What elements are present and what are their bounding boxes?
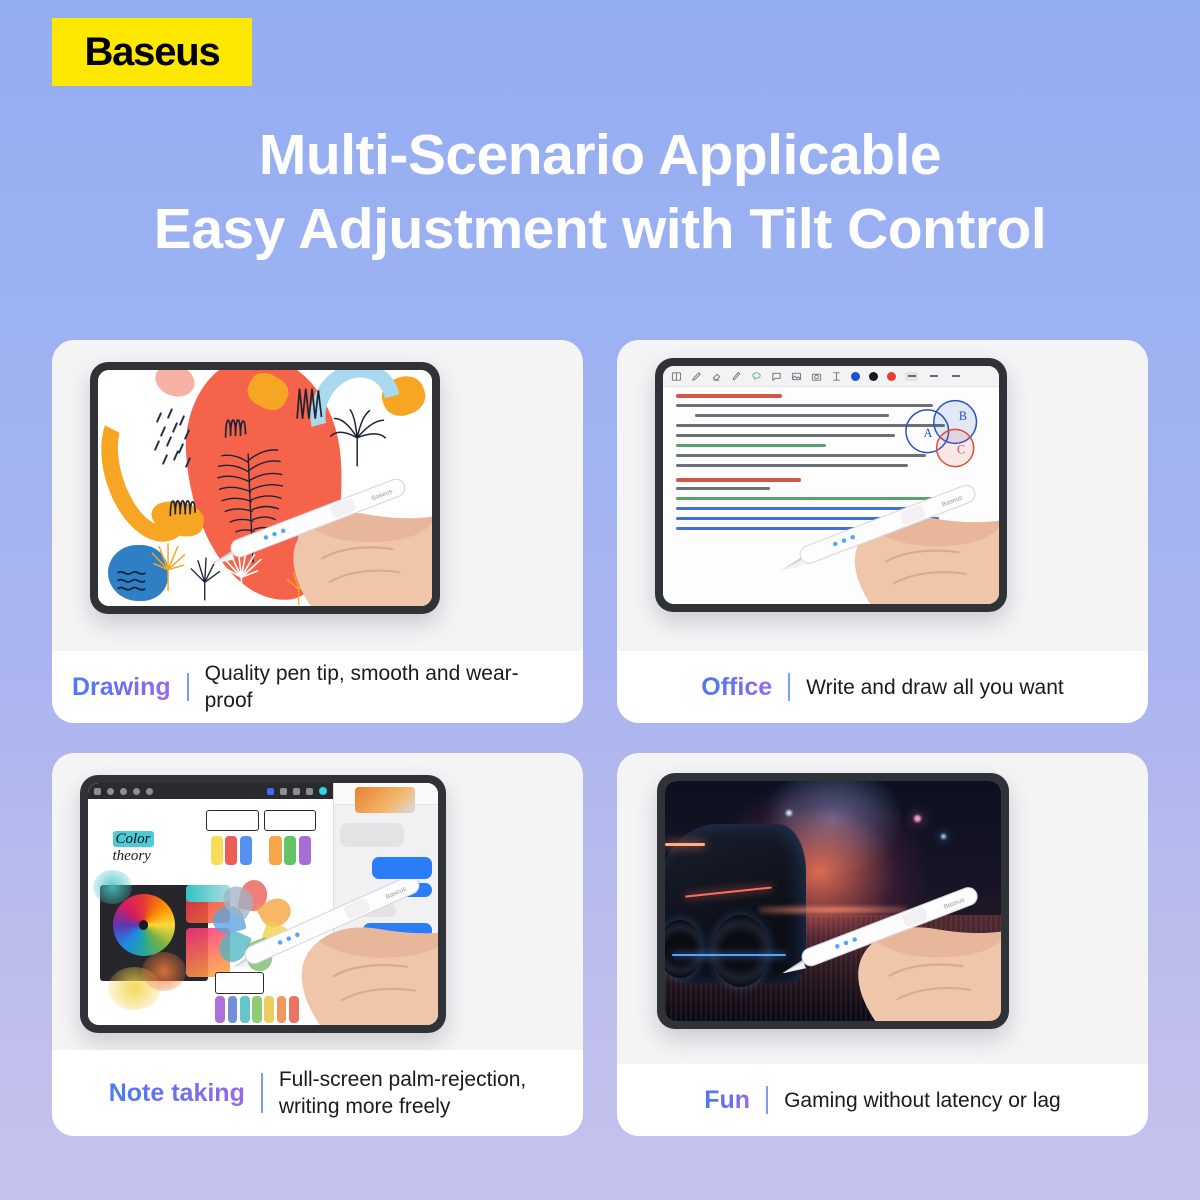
brand-logo: Baseus <box>52 18 252 86</box>
caption-divider <box>261 1073 263 1113</box>
note-toolbar[interactable] <box>663 366 999 387</box>
tablet-screen: A B C <box>663 366 999 604</box>
tablet-screen: Baseus <box>98 370 432 606</box>
tablet-device: A B C <box>655 358 1007 612</box>
caption-divider <box>187 673 189 701</box>
headline-line-1: Multi-Scenario Applicable <box>0 118 1200 192</box>
stylus-pen: Baseus <box>207 880 438 967</box>
stylus-pen: Baseus <box>764 485 999 571</box>
caption-drawing: Drawing Quality pen tip, smooth and wear… <box>52 651 583 723</box>
stage-light-3 <box>786 810 792 816</box>
label-second-colors <box>264 810 315 832</box>
tablet-device: Color theory <box>80 775 446 1033</box>
fun-illustration: Baseus <box>617 753 1148 1064</box>
wave-lines <box>111 568 158 592</box>
stage-light-1 <box>914 815 921 822</box>
svg-text:B: B <box>959 409 967 423</box>
drawing-illustration: Baseus <box>52 340 583 651</box>
scenario-card-note-taking[interactable]: Color theory <box>52 753 583 1136</box>
color-swatch-black[interactable] <box>869 372 878 381</box>
brush-icon[interactable] <box>267 788 274 795</box>
chat-photo-attachment <box>355 787 415 813</box>
note-title: Color theory <box>113 831 154 864</box>
caption-divider <box>766 1086 768 1114</box>
caption-title: Drawing <box>72 673 171 702</box>
paint-splash-teal <box>93 870 132 904</box>
lasso-icon[interactable] <box>751 371 762 382</box>
headlight-streak <box>665 843 705 846</box>
note-title-line-2: theory <box>113 848 151 864</box>
select-icon[interactable] <box>120 788 127 795</box>
swatch-yellow <box>211 836 223 865</box>
adjust-icon[interactable] <box>107 788 114 795</box>
note-taking-illustration: Color theory <box>52 753 583 1050</box>
stylus-pen: Baseus <box>195 479 432 564</box>
page-title: Multi-Scenario Applicable Easy Adjustmen… <box>0 118 1200 266</box>
toolbar-left-group[interactable] <box>94 788 153 795</box>
stroke-width-option-1[interactable] <box>905 372 918 381</box>
caption-description-line-2: writing more freely <box>279 1095 451 1118</box>
scenario-grid: Baseus Drawing Quality pen tip, smooth a… <box>52 340 1148 1152</box>
tonal-swatch-1 <box>215 996 225 1023</box>
gallery-icon[interactable] <box>94 788 101 795</box>
smudge-icon[interactable] <box>280 788 287 795</box>
scenario-card-drawing[interactable]: Baseus Drawing Quality pen tip, smooth a… <box>52 340 583 723</box>
image-icon[interactable] <box>791 371 802 382</box>
caption-title: Fun <box>704 1086 750 1115</box>
scenario-card-fun[interactable]: Baseus Fun Gaming without latency or lag <box>617 753 1148 1136</box>
highlighter-icon[interactable] <box>731 371 742 382</box>
transform-icon[interactable] <box>133 788 140 795</box>
toolbar-right-group[interactable] <box>267 787 327 795</box>
tablet-screen: Color theory <box>88 783 438 1025</box>
color-swatch-blue[interactable] <box>851 372 860 381</box>
label-primary-colors <box>206 810 260 832</box>
camera-icon[interactable] <box>811 371 822 382</box>
eraser-icon[interactable] <box>711 371 722 382</box>
caption-description: Full-screen palm-rejection, writing more… <box>279 1066 526 1120</box>
tonal-swatch-2 <box>228 996 238 1023</box>
actions-icon[interactable] <box>146 788 153 795</box>
color-swatch-active[interactable] <box>319 787 327 795</box>
drawing-app-toolbar[interactable] <box>88 783 333 799</box>
color-wheel <box>113 894 175 956</box>
paint-splash-orange <box>142 952 186 991</box>
office-illustration: A B C <box>617 340 1148 651</box>
caption-description: Gaming without latency or lag <box>784 1087 1061 1114</box>
pink-shape <box>151 370 199 402</box>
text-icon[interactable] <box>831 371 842 382</box>
note-title-line-1: Color <box>113 831 154 847</box>
swatch-red <box>225 836 237 865</box>
car-wheel-front <box>712 915 769 987</box>
caption-fun: Fun Gaming without latency or lag <box>617 1064 1148 1136</box>
color-swatch-red[interactable] <box>887 372 896 381</box>
tablet-device: Baseus <box>90 362 440 614</box>
caption-note-taking: Note taking Full-screen palm-rejection, … <box>52 1050 583 1136</box>
scenario-card-office[interactable]: A B C <box>617 340 1148 723</box>
tablet-screen: Baseus <box>665 781 1001 1021</box>
pen-icon[interactable] <box>691 371 702 382</box>
caption-description: Write and draw all you want <box>806 674 1064 701</box>
caption-title: Office <box>701 673 772 702</box>
eraser-icon[interactable] <box>293 788 300 795</box>
brand-name: Baseus <box>84 32 219 72</box>
stroke-width-option-2[interactable] <box>927 372 940 381</box>
caption-title: Note taking <box>109 1079 245 1108</box>
stylus-pen: Baseus <box>766 887 1001 973</box>
caption-description-line-1: Full-screen palm-rejection, <box>279 1068 526 1091</box>
layers-icon[interactable] <box>306 788 313 795</box>
stroke-width-option-3[interactable] <box>949 372 962 381</box>
headline-line-2: Easy Adjustment with Tilt Control <box>0 192 1200 266</box>
comment-icon[interactable] <box>771 371 782 382</box>
tablet-device: Baseus <box>657 773 1009 1029</box>
caption-divider <box>788 673 790 701</box>
caption-office: Office Write and draw all you want <box>617 651 1148 723</box>
page-icon[interactable] <box>671 371 682 382</box>
caption-description: Quality pen tip, smooth and wear-proof <box>205 660 565 714</box>
